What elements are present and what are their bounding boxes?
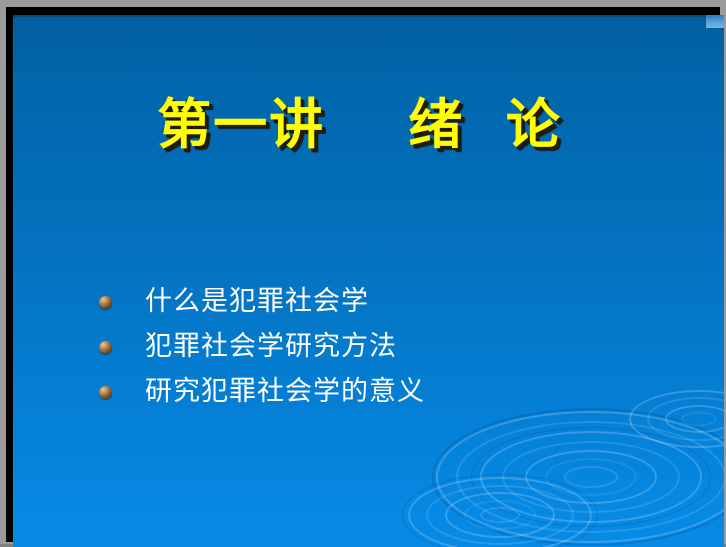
- list-item-label: 犯罪社会学研究方法: [145, 330, 397, 364]
- list-item[interactable]: 研究犯罪社会学的意义: [99, 369, 659, 414]
- slide-bullet-list[interactable]: 什么是犯罪社会学 犯罪社会学研究方法 研究犯罪社会学的意义: [99, 279, 659, 414]
- list-item-label: 研究犯罪社会学的意义: [145, 375, 425, 409]
- bullet-sphere-icon: [99, 296, 112, 309]
- slide-title-block[interactable]: 第一讲 绪 论: [13, 93, 724, 155]
- list-item[interactable]: 什么是犯罪社会学: [99, 279, 659, 324]
- page-title: 第一讲 绪 论: [157, 93, 562, 155]
- list-item-label: 什么是犯罪社会学: [145, 285, 369, 319]
- top-right-highlight-notch: [706, 15, 724, 28]
- slide-top-edge-shade: [13, 15, 724, 17]
- list-item[interactable]: 犯罪社会学研究方法: [99, 324, 659, 369]
- bullet-sphere-icon: [99, 386, 112, 399]
- slide-border: 第一讲 绪 论 什么是犯罪社会学 犯罪社会学研究方法 研究犯罪社会学的意义: [6, 7, 720, 542]
- presentation-page-background: 第一讲 绪 论 什么是犯罪社会学 犯罪社会学研究方法 研究犯罪社会学的意义: [0, 0, 726, 544]
- slide-canvas[interactable]: 第一讲 绪 论 什么是犯罪社会学 犯罪社会学研究方法 研究犯罪社会学的意义: [13, 15, 724, 547]
- bullet-sphere-icon: [99, 341, 112, 354]
